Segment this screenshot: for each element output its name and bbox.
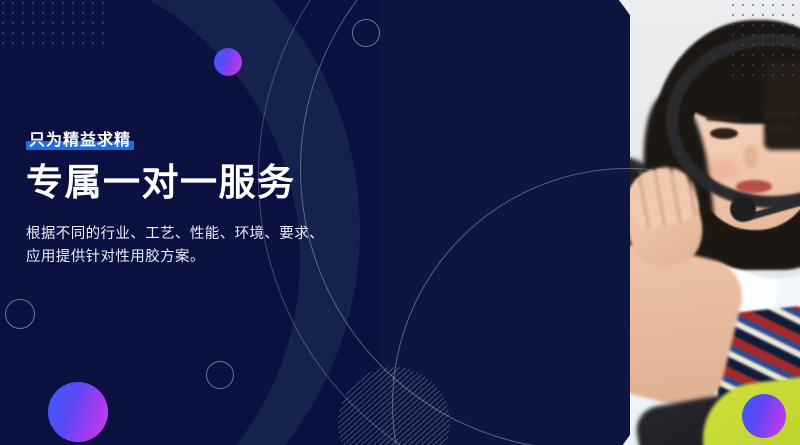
page-title: 专属一对一服务 [26, 163, 386, 203]
subtitle-line-2: 应用提供针对性用胶方案。 [26, 246, 386, 269]
eyebrow-label: 只为精益求精 [29, 132, 131, 149]
outline-circle-bottom-icon [206, 361, 234, 389]
banner-subtitle: 根据不同的行业、工艺、性能、环境、要求、 应用提供针对性用胶方案。 [26, 223, 386, 270]
eyebrow: 只为精益求精 [26, 126, 134, 151]
dot-grid-top-left-icon [0, 0, 110, 44]
promo-banner: 努力 就是 不努力就是淡季 [0, 0, 800, 445]
dot-grid-top-right-icon [728, 0, 800, 84]
gradient-dot-large-icon [48, 382, 108, 442]
gradient-dot-corner-icon [742, 394, 786, 438]
outline-circle-top-icon [352, 19, 380, 47]
gradient-dot-small-icon [214, 48, 242, 76]
subtitle-line-1: 根据不同的行业、工艺、性能、环境、要求、 [26, 223, 386, 246]
banner-text-block: 只为精益求精 专属一对一服务 根据不同的行业、工艺、性能、环境、要求、 应用提供… [26, 126, 386, 270]
outline-circle-left-icon [5, 299, 35, 329]
